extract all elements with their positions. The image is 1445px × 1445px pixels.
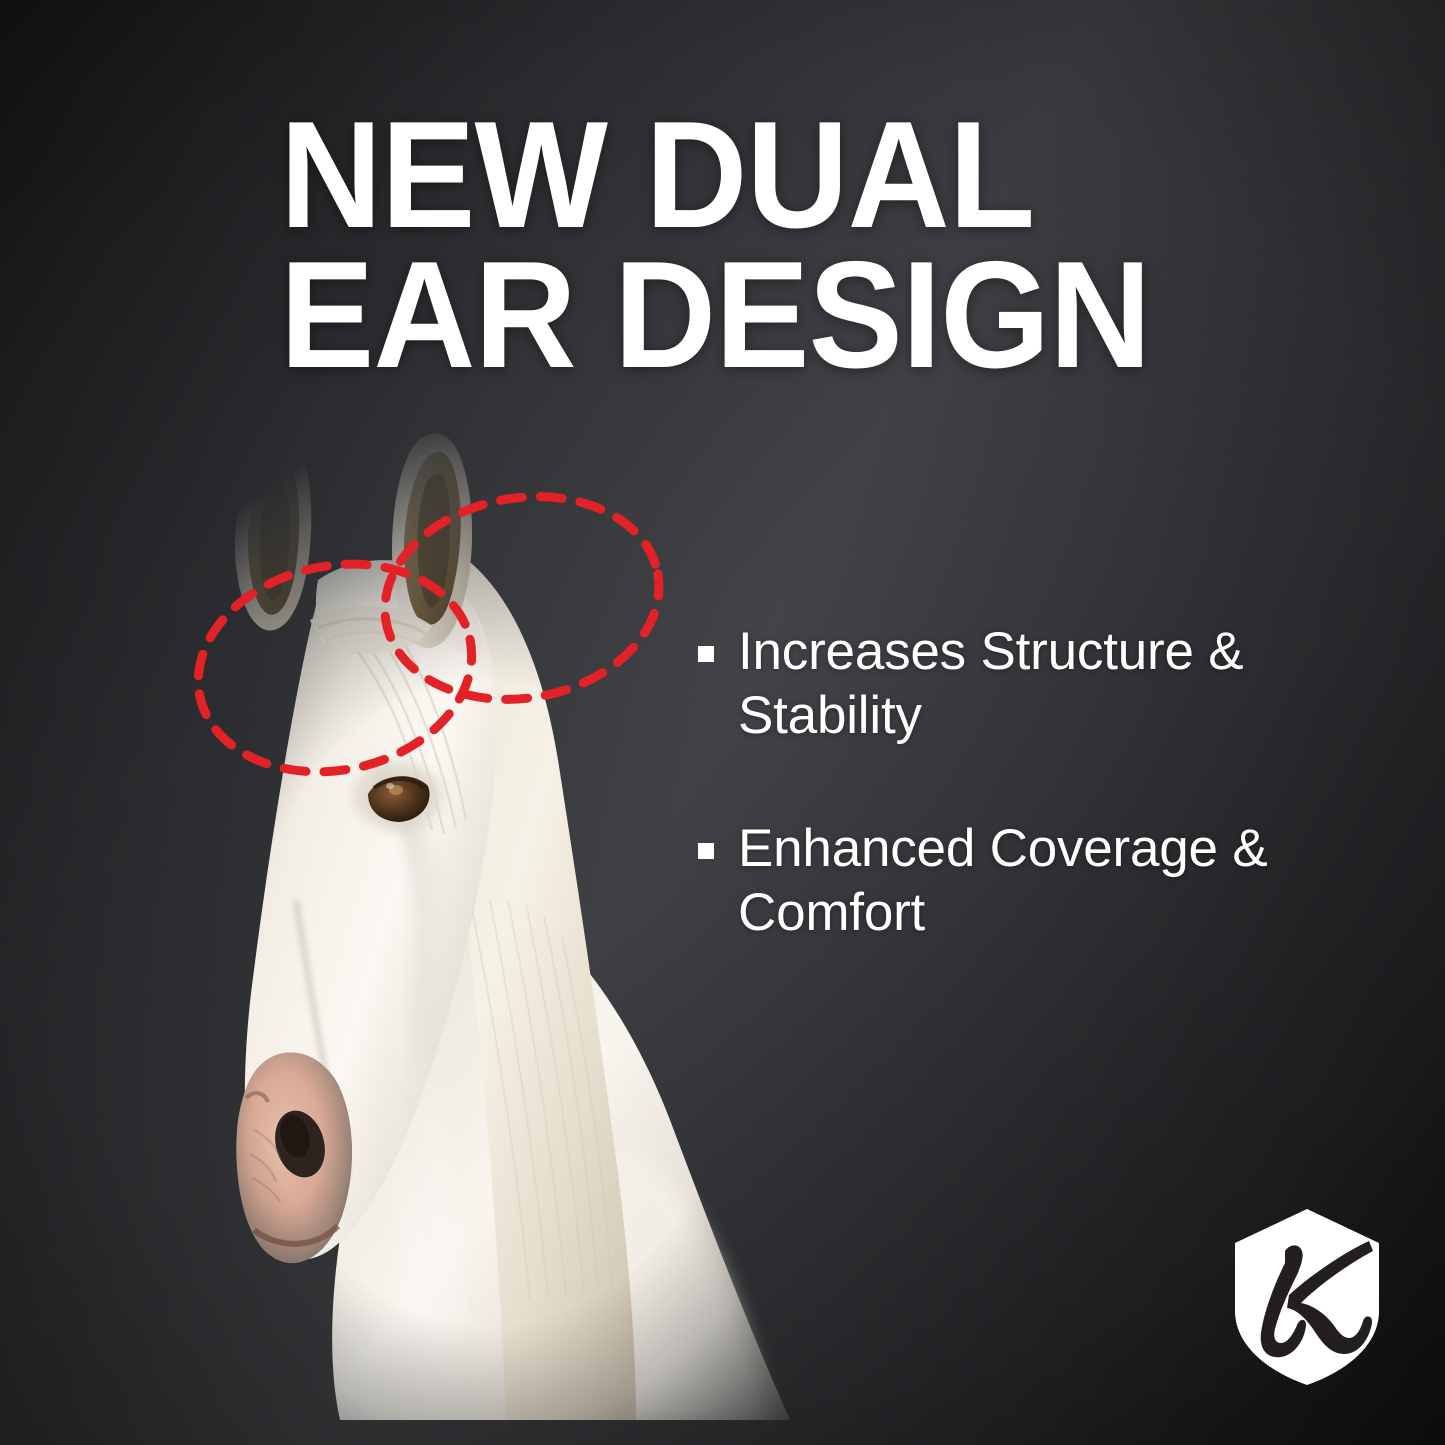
list-item-label: Enhanced Coverage & Comfort [738,817,1358,944]
headline-line-2: EAR DESIGN [280,246,1219,386]
list-item-label: Increases Structure & Stability [738,620,1358,747]
poster-canvas: NEW DUAL EAR DESIGN Increases Structure … [0,0,1445,1445]
feature-list: Increases Structure & Stability Enhanced… [698,620,1378,944]
square-bullet-icon [698,843,714,859]
list-item: Increases Structure & Stability [698,620,1378,747]
brand-logo [1227,1207,1387,1387]
headline-line-1: NEW DUAL [280,106,1219,246]
page-title: NEW DUAL EAR DESIGN [280,106,1219,386]
square-bullet-icon [698,646,714,662]
list-item: Enhanced Coverage & Comfort [698,817,1378,944]
